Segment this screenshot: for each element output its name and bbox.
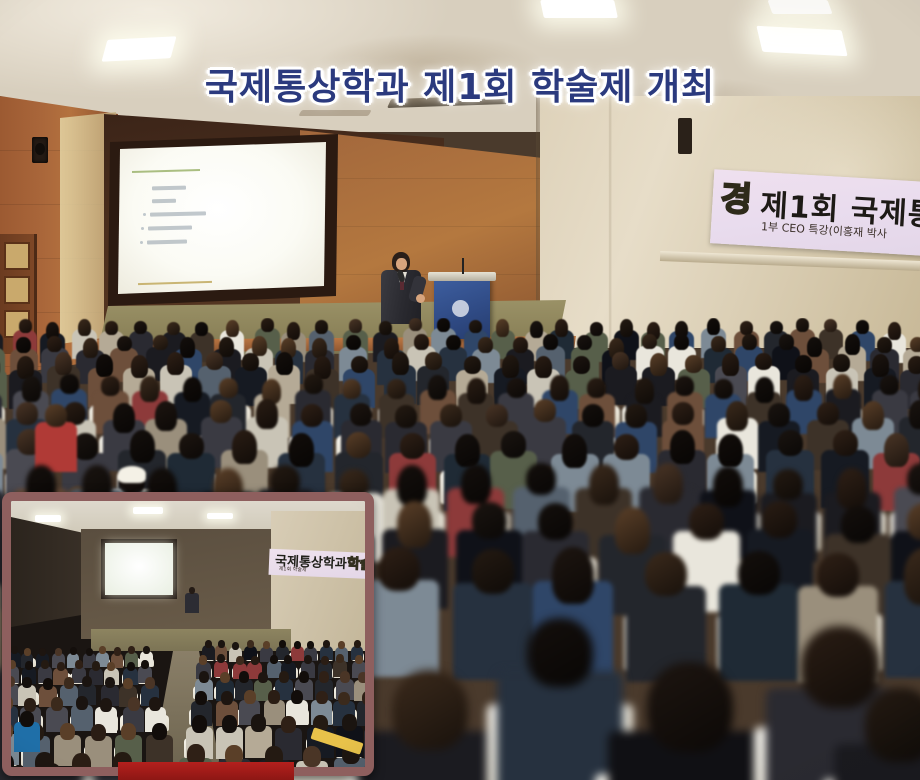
audience-member-head [397,465,427,506]
inset-audience-head [354,640,361,648]
audience-member-head [195,322,208,336]
inset-audience-head [220,672,230,684]
audience-member-head [801,626,879,708]
inset-audience-member [357,701,374,726]
audience-member-head [379,321,392,335]
audience-member-head [351,356,368,374]
audience-member-head [346,335,361,351]
inset-banner-accent-char: 학술 [347,553,374,574]
audience-member-head [400,433,425,459]
inset-audience-head [342,714,357,731]
audience-member-head [817,402,839,425]
inset-audience-head [251,714,266,731]
inset-audience-head [263,641,270,649]
inset-audience-head [218,640,225,648]
audience-member-head [845,334,860,354]
audience-member-head [620,319,633,337]
audience-cap-icon [118,466,147,482]
audience-member-head [513,337,528,353]
audience-member-head [762,501,797,538]
audience-member-head [395,405,417,428]
audience-member-head [612,352,629,370]
audience-member-head [722,353,739,376]
audience-member-head [675,376,694,396]
audience-member-body [497,671,622,780]
inset-auditorium-seat [333,772,365,776]
audience-member-head [315,320,328,334]
audience-member-head [219,378,238,398]
audience-member-head [590,322,603,336]
audience-member-head [455,434,480,468]
inset-audience-head [100,698,112,712]
audience-member-head [304,374,323,394]
inset-audience-head [25,661,33,670]
audience-member-head [877,337,892,353]
audience-member-head [140,376,159,402]
audience-member-head [615,507,650,554]
audience-member-head [16,337,31,353]
audience-member-head [180,337,195,357]
audience-member-head [469,320,482,334]
audience-member-head [726,401,748,431]
inset-red-strip [118,762,294,780]
slide-text-line [152,199,176,204]
audience-member-head [841,506,876,543]
inset-audience-head [92,661,100,670]
audience-member-head [674,334,689,350]
audience-member-head [501,431,526,457]
audience-member-head [428,375,447,401]
audience-member-head [496,319,509,337]
presenter-hand [416,294,425,303]
inset-audience-head [304,655,312,664]
audience-member-head [47,336,62,352]
audience-member-head [740,321,753,335]
audience-member-head [301,404,323,427]
audience-member-head [577,335,592,351]
inset-audience-head [11,646,18,654]
inset-audience-head [51,697,63,711]
audience-member-head [685,355,702,373]
audience-member-head [910,337,920,353]
slide-text-line [152,186,186,191]
audience-member-head [862,401,884,431]
audience-member-head [778,430,803,456]
inset-audience-head [232,642,239,650]
audience-member-head [670,430,695,464]
audience-member-head [833,354,850,372]
audience-member-head [179,433,204,459]
inset-audience-head [222,715,237,732]
audience-member-head [130,430,155,464]
inset-audience-head [41,660,49,669]
audience-member-head [226,320,239,338]
audience-member-head [647,662,733,752]
audience-member-head [653,463,683,504]
inset-event-banner: 국제통상학과 학술 제1회 학술제 [269,549,374,579]
audience-member-head [289,433,314,467]
audience-member-head [555,319,568,337]
audience-member-head [582,404,604,427]
audience-member-head [437,318,450,332]
audience-member-body [719,584,799,681]
audience-member-head [346,432,371,458]
inset-auditorium-seat [370,667,374,678]
audience-member-head [232,430,257,464]
audience-member-head [884,433,909,467]
audience-member-head [888,322,901,340]
audience-member-head [60,374,79,394]
audience-member-head [242,353,259,371]
audience-member-head [472,549,514,593]
inset-audience-head [279,671,289,683]
audience-member-head [795,355,812,373]
audience-member-head [707,318,720,335]
inset-audience-head [39,648,46,656]
wall-speaker-icon [32,137,48,163]
inset-audience-head [107,662,115,671]
audience-member-head [689,503,724,540]
inset-audience-head [86,648,93,656]
inset-audience-head [105,677,115,689]
inset-audience-head [258,672,268,684]
audience-member-head [409,318,422,331]
audience-member-head [625,404,647,427]
audience-member-head [527,618,593,687]
audience-member-head [672,402,694,425]
presenter-face [396,258,407,270]
inset-audience-head [152,723,167,740]
inset-audience-head [340,671,350,683]
audience-member-head [78,319,91,337]
audience-member-head [526,463,556,495]
inset-ceiling-light-icon [35,515,61,522]
inset-audience-head [24,698,36,712]
inset-audience-head [195,691,207,705]
inset-audience-head [20,711,34,727]
audience-member-head [276,352,293,375]
inset-audience-head [338,692,350,706]
audience-member-head [472,502,507,539]
audience-member-head [768,403,790,426]
audience-member-head [650,353,667,376]
audience-member-head [210,400,232,423]
ceiling-light-icon [540,0,618,18]
ceiling-light-icon [101,36,176,62]
inset-audience-head [369,641,374,649]
inset-audience-head [299,671,309,683]
audience-member-head [167,352,184,375]
inset-audience-head [143,646,150,654]
inset-audience-head [145,677,155,689]
audience-member-head [153,335,168,351]
inset-audience-head [323,640,330,648]
audience-member-head [117,336,132,352]
inset-auditorium-seat [365,738,374,758]
audience-member-head [55,352,72,375]
audience-member-head [865,688,920,762]
inset-audience-head [75,660,83,669]
inset-audience-head [199,655,207,664]
ceiling-light-icon [756,26,847,56]
audience-member-head [131,355,148,378]
inset-audience-head [192,715,207,732]
audience-member-head [714,379,733,399]
audience-member-head [507,378,526,398]
audience-member-head [796,318,809,332]
audience-member-body [0,582,1,679]
audience-member-head [543,334,558,350]
inset-audience-head [221,691,233,705]
inset-audience-member [370,663,374,680]
audience-member-head [713,466,743,507]
audience-member-head [446,335,461,351]
inset-audience-head [281,716,296,733]
audience-member-head [773,469,803,501]
inset-audience-head [76,696,88,710]
inset-audience-head [70,647,77,655]
audience-member-head [856,320,869,334]
inset-audience-head [121,723,136,740]
audience-member-head [779,334,794,350]
inset-audience-head [128,697,140,711]
audience-member-head [907,463,920,495]
inset-audience-head [247,640,254,648]
inset-audience-head [244,690,256,704]
audience-member-head [19,319,32,333]
inset-audience-head [373,656,374,665]
audience-member-head [742,334,757,350]
audience-member-head [755,377,774,403]
inset-audience-member [364,728,374,760]
inset-audience-head [358,672,368,684]
podium-microphone-icon [462,258,464,274]
audience-member-head [464,356,481,374]
audience-member-head [22,376,41,402]
audience-member-head [392,670,468,750]
audience-member-head [486,404,508,427]
projector-screen [118,142,326,294]
audience-member-head [167,322,180,336]
audience-member-head [614,434,639,460]
inset-ceiling-light-icon [207,513,233,519]
audience-member-head [880,375,899,395]
inset-audience-head [251,656,259,665]
audience-member-head [550,375,569,401]
audience-member-head [538,503,573,540]
inset-audience-head [123,678,133,690]
audience-member-head [16,402,38,425]
audience-member-head [755,353,772,371]
audience-member-head [824,319,837,333]
audience-member-head [718,434,743,468]
inset-audience-member [28,767,62,776]
audience-member-head [817,553,859,597]
audience-member-head [414,334,429,350]
inset-audience-head [291,690,303,704]
inset-audience-head [43,678,53,690]
audience-member-head [645,552,687,596]
wall-speaker-icon [678,118,692,154]
audience-member-head [478,337,493,353]
inset-banner-sub-text: 제1회 학술제 [279,565,307,573]
inset-audience-head [316,691,328,705]
audience-member-head [711,336,726,352]
inset-audience-head [205,640,212,648]
inset-audience-head [303,746,321,767]
inset-audience-head [8,660,16,669]
inset-audience-head [294,641,301,649]
inset-audience-head [239,671,249,683]
audience-member-head [587,378,606,398]
audience-member-head [833,374,852,400]
audience-member-head [155,401,177,431]
audience-member-head [387,379,406,399]
audience-member-head [534,399,556,422]
inset-audience-member [64,768,98,776]
audience-member-head [206,352,223,370]
event-banner: 경 제1회 국제통 1부 CEO 특강(이홍재 박사 [710,169,920,257]
inset-presenter-head [189,587,195,594]
inset-audience-head [82,676,92,688]
audience-member-body [453,583,533,680]
audience-member-head [101,376,120,396]
inset-photo: 국제통상학과 학술 제1회 학술제 [2,492,374,776]
audience-member-head [183,377,202,403]
audience-member-head [256,399,278,429]
inset-audience-head [114,647,121,655]
front-wall-wood [300,130,560,330]
audience-member-head [461,464,491,505]
audience-member-head [425,352,442,370]
inset-audience-member [366,647,374,662]
inset-audience-head [149,697,161,711]
inset-audience-head [307,641,314,649]
inset-audience-head [199,671,209,683]
inset-audience-head [370,716,374,733]
audience-member-head [573,356,590,374]
audience-member-head [392,352,409,375]
inset-ceiling-light-icon [133,507,163,514]
audience-member-head [349,319,362,333]
inset-audience-head [72,753,91,775]
banner-accent-char: 경 [720,182,753,218]
ceiling-vent [298,110,371,116]
audience-member-head [552,547,594,604]
inset-audience-head [24,648,31,656]
inset-audience-head [2,696,13,710]
inset-audience-head [22,677,32,689]
audience-member-head [589,464,619,505]
audience-member-head [872,354,889,377]
inset-presenter-body [185,593,199,613]
audience-member-head [342,379,361,399]
inset-audience-head [279,640,286,648]
audience-member-head [738,551,780,595]
inset-auditorium-seat [366,652,374,661]
inset-audience-head [91,724,106,741]
audience-member-head [837,468,867,509]
inset-audience-head [321,656,329,665]
audience-member-head [807,337,822,357]
inset-audience-head [319,671,329,683]
inset-audience-head [64,677,74,689]
inset-audience-head [57,662,65,671]
audience-member-head [261,318,274,332]
audience-member-head [83,338,98,358]
audience-member-head [535,356,552,379]
inset-audience-head [268,690,280,704]
audience-member-head [113,403,135,433]
audience-member-head [794,375,813,401]
inset-audience-head [236,656,244,665]
audience-member-head [770,321,783,335]
ceiling-light-icon [767,0,832,14]
inset-audience-head [355,655,363,664]
inset-audience-head [141,660,149,669]
audience-member-head [105,321,118,335]
audience-member-head [397,501,432,548]
inset-audience-head [362,691,374,705]
inset-audience-head [55,648,62,656]
screenshot-root: 경 제1회 국제통 1부 CEO 특강(이홍재 박사 국제통상학과 제1 [0,0,920,780]
audience-member-head [350,403,372,426]
audience-member-head [502,355,519,378]
audience-member-head [287,322,300,340]
inset-audience-head [127,662,135,671]
audience-member-head [833,430,858,456]
inset-audience-head [5,676,15,688]
inset-audience-head [336,654,344,663]
ceiling-vent [387,95,513,108]
audience-member-head [440,404,462,427]
audience-member-head [45,404,67,427]
audience-member-head [908,356,920,374]
audience-member-head [562,434,587,468]
inset-audience-head [338,641,345,649]
inset-auditorium-seat [297,772,329,776]
inset-projector-screen [105,543,173,595]
audience-member-head [378,547,420,591]
audience-member-head [467,378,486,404]
audience-member-head [530,321,543,339]
inset-audience-head [60,723,75,740]
audience-member-head [635,378,654,404]
podium-emblem [452,300,469,317]
audience-member-head [642,334,657,350]
audience-member-head [96,354,113,377]
